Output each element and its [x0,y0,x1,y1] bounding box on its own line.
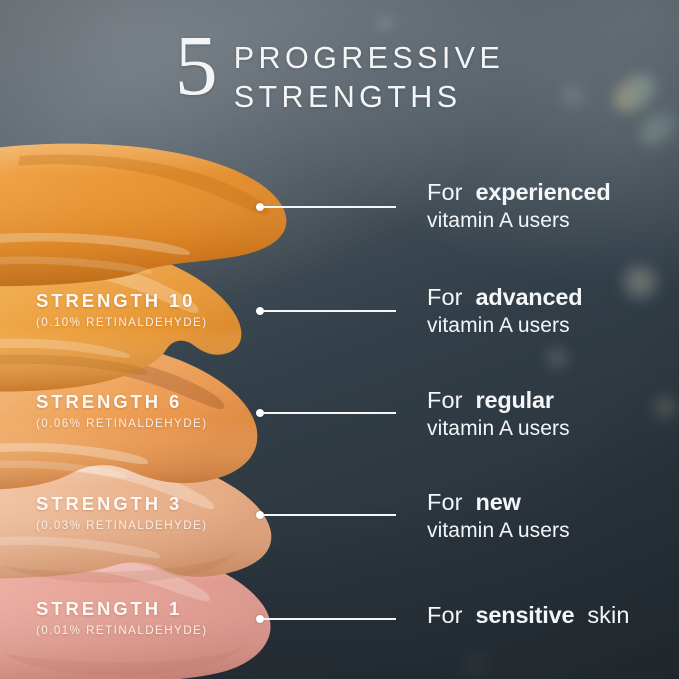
caption-emphasis: new [476,489,521,515]
caption-emphasis: sensitive [476,602,575,628]
header: 5 PROGRESSIVE STRENGTHS [0,0,679,117]
headline-line-1: PROGRESSIVE [234,39,504,78]
caption-line-1: For experienced [427,178,611,206]
caption-prefix: For [427,602,463,628]
connector-strength-3 [256,510,396,520]
caption-emphasis: regular [476,387,554,413]
connector-line [263,206,396,208]
caption-prefix: For [427,284,463,310]
caption-emphasis: experienced [476,179,611,205]
product-strength-infographic: 5 PROGRESSIVE STRENGTHS [0,0,679,679]
caption-line-2: vitamin A users [427,518,570,544]
caption-strength-20: For experienced vitamin A users [427,178,611,234]
headline-line-2: STRENGTHS [234,78,504,117]
caption-emphasis: advanced [476,284,583,310]
caption-strength-3: For new vitamin A users [427,488,570,544]
caption-line-1: For sensitive skin [427,601,630,629]
connector-line [263,310,396,312]
caption-line-2: vitamin A users [427,313,582,339]
caption-prefix: For [427,489,463,515]
connector-strength-1 [256,614,396,624]
connector-strength-20 [256,202,396,212]
connector-line [263,412,396,414]
caption-suffix: skin [587,602,629,628]
connector-line [263,514,396,516]
caption-line-2: vitamin A users [427,208,611,234]
caption-strength-10: For advanced vitamin A users [427,283,582,339]
caption-line-1: For advanced [427,283,582,311]
caption-line-2: vitamin A users [427,416,570,442]
connector-strength-6 [256,408,396,418]
swatch-strength-20 [0,138,360,288]
caption-strength-6: For regular vitamin A users [427,386,570,442]
headline-number: 5 [175,26,217,106]
caption-prefix: For [427,179,463,205]
caption-line-1: For new [427,488,570,516]
connector-line [263,618,396,620]
caption-line-1: For regular [427,386,570,414]
connector-strength-10 [256,306,396,316]
caption-strength-1: For sensitive skin [427,601,630,629]
caption-prefix: For [427,387,463,413]
